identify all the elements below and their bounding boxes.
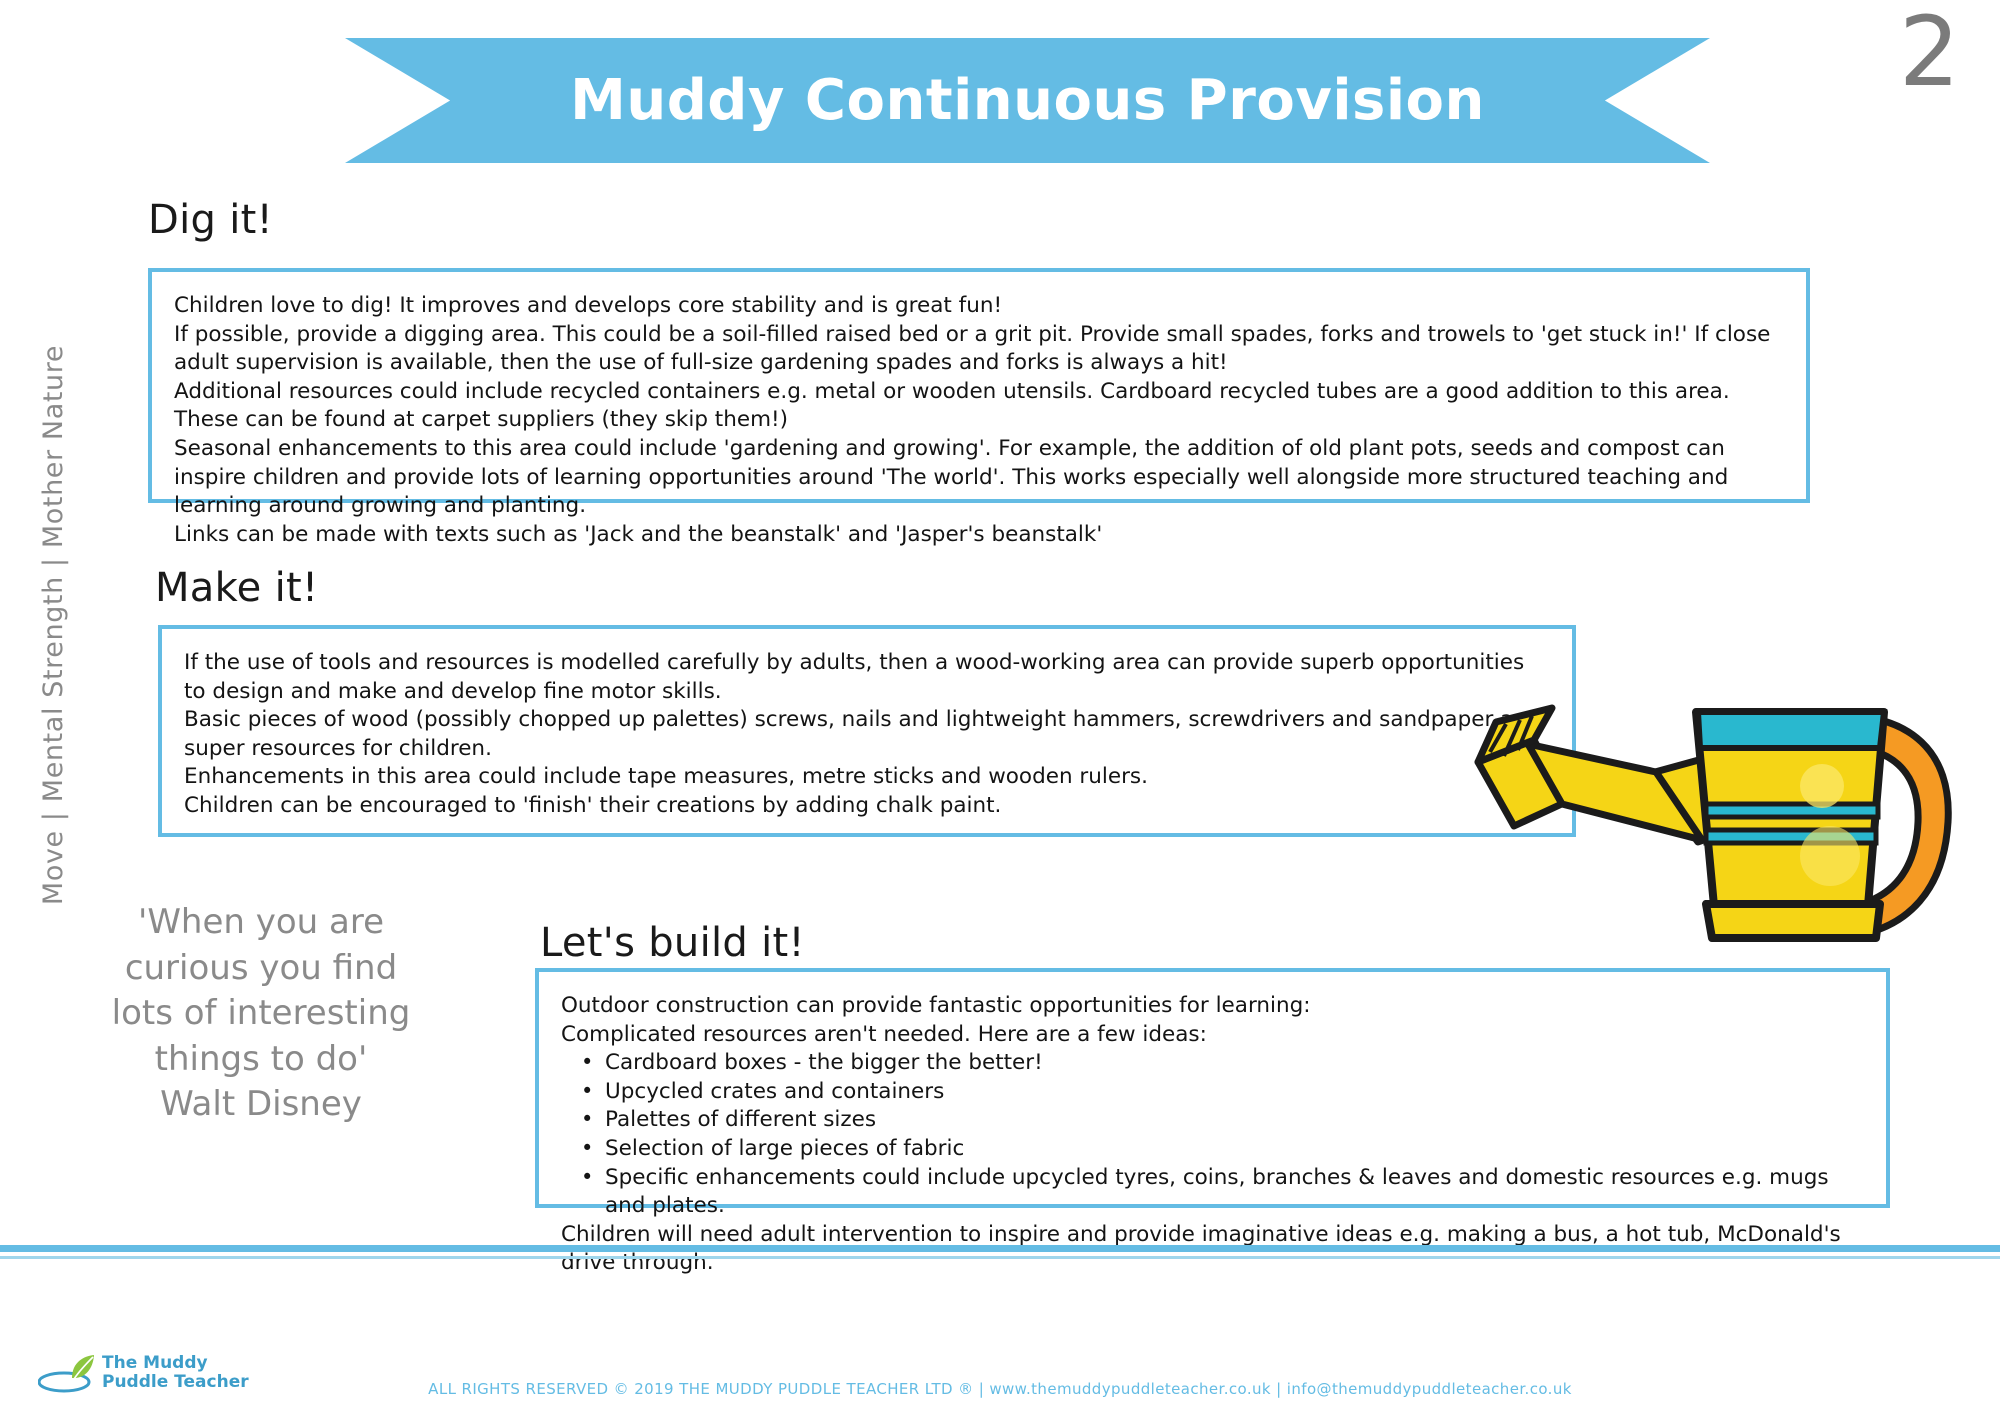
paragraph: Enhancements in this area could include … — [184, 763, 1548, 792]
list-item: Specific enhancements could include upcy… — [603, 1164, 1862, 1221]
paragraph: Additional resources could include recyc… — [174, 378, 1782, 435]
list-item: Cardboard boxes - the bigger the better! — [603, 1049, 1862, 1078]
content-box-dig: Children love to dig! It improves and de… — [148, 268, 1810, 503]
list-item: Selection of large pieces of fabric — [603, 1135, 1862, 1164]
paragraph: Complicated resources aren't needed. Her… — [561, 1021, 1862, 1050]
quote-text: 'When you are curious you find lots of i… — [112, 902, 411, 1079]
list-item: Upcycled crates and containers — [603, 1078, 1862, 1107]
section-heading-dig: Dig it! — [148, 197, 273, 243]
content-body-dig: Children love to dig! It improves and de… — [152, 272, 1806, 561]
page-title: Muddy Continuous Provision — [570, 68, 1485, 133]
section-heading-build: Let's build it! — [540, 920, 805, 966]
sidebar-vertical-label: Move | Mental Strength | Mother Nature — [38, 295, 69, 955]
paragraph: Children can be encouraged to 'finish' t… — [184, 792, 1548, 821]
footer-divider — [0, 1245, 2000, 1252]
page-number: 2 — [1899, 4, 1960, 100]
paragraph: If the use of tools and resources is mod… — [184, 649, 1548, 706]
footer-divider-secondary — [0, 1256, 2000, 1259]
list-item: Palettes of different sizes — [603, 1106, 1862, 1135]
bullet-list: Cardboard boxes - the bigger the better!… — [561, 1049, 1862, 1221]
banner-ribbon-shape: Muddy Continuous Provision — [345, 38, 1710, 163]
paragraph: Links can be made with texts such as 'Ja… — [174, 521, 1782, 550]
footer-copyright: ALL RIGHTS RESERVED © 2019 THE MUDDY PUD… — [0, 1380, 2000, 1398]
paragraph: Basic pieces of wood (possibly chopped u… — [184, 706, 1548, 763]
paragraph: Seasonal enhancements to this area could… — [174, 435, 1782, 521]
section-heading-make: Make it! — [155, 565, 318, 611]
paragraph: If possible, provide a digging area. Thi… — [174, 321, 1782, 378]
brand-logo-line1: The Muddy — [102, 1354, 249, 1373]
content-body-make: If the use of tools and resources is mod… — [162, 629, 1572, 833]
watering-can-illustration — [1470, 700, 1970, 970]
content-box-make: If the use of tools and resources is mod… — [158, 625, 1576, 837]
paragraph: Children love to dig! It improves and de… — [174, 292, 1782, 321]
title-banner: Muddy Continuous Provision — [345, 38, 1710, 163]
paragraph: Outdoor construction can provide fantast… — [561, 992, 1862, 1021]
content-body-build: Outdoor construction can provide fantast… — [539, 972, 1886, 1290]
content-box-build: Outdoor construction can provide fantast… — [535, 968, 1890, 1208]
quote-author: Walt Disney — [96, 1082, 426, 1128]
quote-block: 'When you are curious you find lots of i… — [96, 900, 426, 1128]
